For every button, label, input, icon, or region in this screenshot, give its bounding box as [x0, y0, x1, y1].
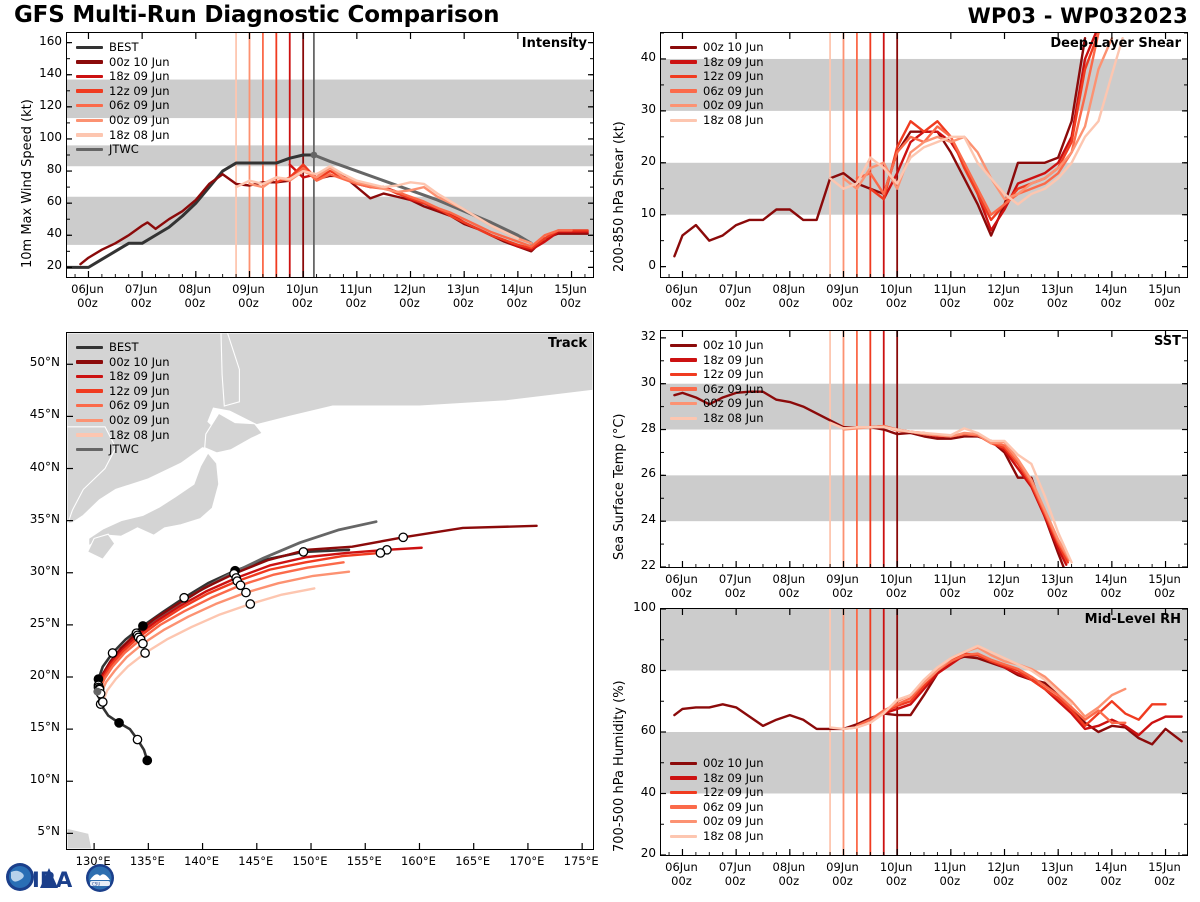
- legend-swatch-icon: [670, 791, 697, 794]
- legend-intensity-item[interactable]: 00z 10 Jun: [76, 55, 170, 70]
- legend-track[interactable]: BEST00z 10 Jun18z 09 Jun12z 09 Jun06z 09…: [76, 340, 170, 457]
- legend-label: 12z 09 Jun: [703, 69, 764, 84]
- legend-label: 18z 08 Jun: [109, 128, 170, 143]
- legend-rh-item[interactable]: 06z 09 Jun: [670, 800, 764, 815]
- page-title: GFS Multi-Run Diagnostic Comparison: [14, 2, 499, 28]
- track-marker-best: [108, 649, 116, 657]
- legend-swatch-icon: [76, 89, 103, 92]
- legend-label: 00z 09 Jun: [109, 413, 170, 428]
- legend-shear-item[interactable]: 06z 09 Jun: [670, 84, 764, 99]
- xtick-label-track: 165°E: [443, 854, 503, 868]
- track-line-06z-09-jun: [100, 562, 344, 689]
- legend-swatch-icon: [76, 119, 103, 122]
- ytick-label-track: 20°N: [10, 668, 60, 682]
- track-marker-best: [180, 594, 188, 602]
- shaded-band-sst-0: [661, 475, 1187, 521]
- track-marker-best: [139, 622, 147, 630]
- legend-swatch-icon: [670, 820, 697, 823]
- svg-text:CSU: CSU: [92, 882, 100, 887]
- legend-rh-item[interactable]: 18z 09 Jun: [670, 771, 764, 786]
- ytick-label-track: 5°N: [10, 824, 60, 838]
- xtick-label-intensity: 11Jun00z: [326, 282, 386, 310]
- legend-swatch-icon: [76, 133, 103, 136]
- legend-label: 00z 10 Jun: [703, 756, 764, 771]
- legend-shear-item[interactable]: 00z 10 Jun: [670, 40, 764, 55]
- xtick-label-sst: 07Jun00z: [705, 572, 765, 600]
- legend-swatch-icon: [670, 373, 697, 376]
- xtick-label-shear: 07Jun00z: [705, 282, 765, 310]
- track-marker-00z-09-jun: [242, 588, 250, 596]
- xtick-label-sst: 12Jun00z: [974, 572, 1034, 600]
- ytick-label-rh: 60: [614, 723, 656, 737]
- legend-label: 18z 08 Jun: [703, 829, 764, 844]
- legend-label: 00z 09 Jun: [703, 98, 764, 113]
- xtick-label-track: 140°E: [172, 854, 232, 868]
- xtick-label-rh: 11Jun00z: [920, 860, 980, 888]
- legend-track-item[interactable]: 00z 10 Jun: [76, 355, 170, 370]
- xtick-label-shear: 15Jun00z: [1135, 282, 1195, 310]
- legend-swatch-icon: [76, 419, 103, 422]
- legend-swatch-icon: [670, 344, 697, 347]
- xtick-label-rh: 09Jun00z: [812, 860, 872, 888]
- panel-title-shear: Deep-Layer Shear: [1050, 36, 1181, 51]
- legend-label: 12z 09 Jun: [109, 384, 170, 399]
- legend-rh[interactable]: 00z 10 Jun18z 09 Jun12z 09 Jun06z 09 Jun…: [670, 756, 764, 844]
- legend-swatch-icon: [76, 104, 103, 107]
- xtick-label-sst: 06Jun00z: [651, 572, 711, 600]
- xtick-label-track: 160°E: [388, 854, 448, 868]
- legend-track-item[interactable]: 06z 09 Jun: [76, 398, 170, 413]
- legend-track-item[interactable]: JTWC: [76, 442, 170, 457]
- legend-label: 06z 09 Jun: [703, 800, 764, 815]
- legend-label: 00z 09 Jun: [109, 113, 170, 128]
- ylabel-shear: 200-850 hPa Shear (kt): [612, 121, 627, 272]
- ytick-label-intensity: 80: [20, 162, 62, 176]
- legend-label: 06z 09 Jun: [703, 382, 764, 397]
- legend-sst-item[interactable]: 12z 09 Jun: [670, 367, 764, 382]
- legend-sst-item[interactable]: 06z 09 Jun: [670, 382, 764, 397]
- track-marker-00z-10-jun: [399, 533, 407, 541]
- xtick-label-rh: 13Jun00z: [1027, 860, 1087, 888]
- legend-intensity-item[interactable]: BEST: [76, 40, 170, 55]
- xtick-label-sst: 13Jun00z: [1027, 572, 1087, 600]
- legend-label: 18z 09 Jun: [703, 55, 764, 70]
- xtick-label-sst: 15Jun00z: [1135, 572, 1195, 600]
- legend-label: 00z 10 Jun: [703, 338, 764, 353]
- legend-label: 06z 09 Jun: [109, 98, 170, 113]
- legend-rh-item[interactable]: 12z 09 Jun: [670, 785, 764, 800]
- jtwc-current-marker: [310, 152, 317, 159]
- legend-shear-item[interactable]: 00z 09 Jun: [670, 98, 764, 113]
- shaded-band-shear-0: [661, 163, 1187, 215]
- xtick-label-track: 145°E: [226, 854, 286, 868]
- legend-rh-item[interactable]: 00z 09 Jun: [670, 814, 764, 829]
- track-line-best: [97, 550, 349, 761]
- legend-track-item[interactable]: 12z 09 Jun: [76, 384, 170, 399]
- storm-id-title: WP03 - WP032023: [968, 4, 1188, 28]
- ytick-label-intensity: 20: [20, 258, 62, 272]
- legend-swatch-icon: [76, 46, 103, 49]
- xtick-label-shear: 09Jun00z: [812, 282, 872, 310]
- ytick-label-shear: 20: [614, 154, 656, 168]
- ytick-label-track: 40°N: [10, 460, 60, 474]
- legend-intensity-item[interactable]: 06z 09 Jun: [76, 98, 170, 113]
- xtick-label-shear: 10Jun00z: [866, 282, 926, 310]
- legend-intensity-item[interactable]: 00z 09 Jun: [76, 113, 170, 128]
- legend-track-item[interactable]: 00z 09 Jun: [76, 413, 170, 428]
- ytick-label-shear: 0: [614, 258, 656, 272]
- ytick-label-sst: 26: [614, 466, 656, 480]
- ytick-label-sst: 24: [614, 512, 656, 526]
- legend-swatch-icon: [670, 104, 697, 107]
- xtick-label-sst: 14Jun00z: [1081, 572, 1141, 600]
- ylabel-rh: 700-500 hPa Humidity (%): [612, 680, 627, 852]
- xtick-label-rh: 07Jun00z: [705, 860, 765, 888]
- xtick-label-track: 150°E: [280, 854, 340, 868]
- legend-sst[interactable]: 00z 10 Jun18z 09 Jun12z 09 Jun06z 09 Jun…: [670, 338, 764, 426]
- xtick-label-intensity: 14Jun00z: [487, 282, 547, 310]
- legend-label: 00z 10 Jun: [109, 355, 170, 370]
- legend-intensity-item[interactable]: JTWC: [76, 142, 170, 157]
- xtick-label-intensity: 09Jun00z: [218, 282, 278, 310]
- ytick-label-track: 25°N: [10, 616, 60, 630]
- legend-swatch-icon: [670, 89, 697, 92]
- ytick-label-intensity: 160: [20, 34, 62, 48]
- legend-rh-item[interactable]: 00z 10 Jun: [670, 756, 764, 771]
- track-marker-06z-09-jun: [236, 581, 244, 589]
- track-marker-00z-09-jun: [139, 639, 147, 647]
- legend-label: 18z 08 Jun: [703, 411, 764, 426]
- ytick-label-shear: 40: [614, 50, 656, 64]
- xtick-label-intensity: 13Jun00z: [433, 282, 493, 310]
- legend-swatch-icon: [670, 46, 697, 49]
- legend-label: 12z 09 Jun: [703, 367, 764, 382]
- xtick-label-sst: 08Jun00z: [759, 572, 819, 600]
- legend-intensity-item[interactable]: 18z 09 Jun: [76, 69, 170, 84]
- legend-sst-item[interactable]: 00z 10 Jun: [670, 338, 764, 353]
- xtick-label-shear: 11Jun00z: [920, 282, 980, 310]
- legend-swatch-icon: [76, 60, 103, 63]
- legend-label: 12z 09 Jun: [703, 785, 764, 800]
- ytick-label-sst: 28: [614, 421, 656, 435]
- legend-swatch-icon: [670, 60, 697, 63]
- legend-label: 00z 09 Jun: [703, 814, 764, 829]
- ytick-label-intensity: 60: [20, 194, 62, 208]
- panel-title-track: Track: [548, 336, 587, 351]
- ytick-label-rh: 40: [614, 785, 656, 799]
- ytick-label-track: 30°N: [10, 564, 60, 578]
- legend-swatch-icon: [76, 433, 103, 436]
- panel-title-intensity: Intensity: [522, 36, 587, 51]
- ytick-label-rh: 100: [614, 600, 656, 614]
- legend-swatch-icon: [670, 835, 697, 838]
- ytick-label-sst: 22: [614, 558, 656, 572]
- panel-title-rh: Mid-Level RH: [1085, 612, 1181, 627]
- xtick-label-sst: 09Jun00z: [812, 572, 872, 600]
- legend-swatch-icon: [76, 404, 103, 407]
- legend-label: 00z 10 Jun: [109, 55, 170, 70]
- xtick-label-rh: 15Jun00z: [1135, 860, 1195, 888]
- xtick-label-track: 155°E: [334, 854, 394, 868]
- legend-shear-item[interactable]: 12z 09 Jun: [670, 69, 764, 84]
- legend-sst-item[interactable]: 00z 09 Jun: [670, 396, 764, 411]
- track-origin-marker: [93, 688, 101, 696]
- legend-swatch-icon: [670, 402, 697, 405]
- legend-shear-item[interactable]: 18z 09 Jun: [670, 55, 764, 70]
- xtick-label-intensity: 15Jun00z: [541, 282, 601, 310]
- legend-swatch-icon: [76, 375, 103, 378]
- legend-shear-item[interactable]: 18z 08 Jun: [670, 113, 764, 128]
- track-marker-best: [115, 719, 123, 727]
- legend-sst-item[interactable]: 18z 08 Jun: [670, 411, 764, 426]
- legend-label: 18z 08 Jun: [109, 428, 170, 443]
- track-marker-18z-08-jun: [141, 649, 149, 657]
- legend-label: JTWC: [109, 142, 139, 157]
- xtick-label-shear: 08Jun00z: [759, 282, 819, 310]
- ytick-label-track: 45°N: [10, 407, 60, 421]
- legend-swatch-icon: [76, 448, 103, 451]
- xtick-label-shear: 13Jun00z: [1027, 282, 1087, 310]
- legend-intensity-item[interactable]: 18z 08 Jun: [76, 128, 170, 143]
- ytick-label-shear: 30: [614, 102, 656, 116]
- xtick-label-rh: 06Jun00z: [651, 860, 711, 888]
- legend-label: BEST: [109, 340, 138, 355]
- ytick-label-intensity: 40: [20, 226, 62, 240]
- legend-label: 18z 09 Jun: [109, 69, 170, 84]
- legend-swatch-icon: [76, 75, 103, 78]
- xtick-label-intensity: 08Jun00z: [165, 282, 225, 310]
- ytick-label-intensity: 100: [20, 130, 62, 144]
- ytick-label-intensity: 140: [20, 66, 62, 80]
- xtick-label-intensity: 10Jun00z: [272, 282, 332, 310]
- legend-label: 06z 09 Jun: [109, 398, 170, 413]
- legend-swatch-icon: [670, 119, 697, 122]
- ytick-label-track: 50°N: [10, 355, 60, 369]
- legend-swatch-icon: [670, 776, 697, 779]
- legend-label: 18z 09 Jun: [109, 369, 170, 384]
- legend-swatch-icon: [670, 75, 697, 78]
- xtick-label-intensity: 12Jun00z: [380, 282, 440, 310]
- ylabel-intensity: 10m Max Wind Speed (kt): [20, 99, 35, 268]
- legend-swatch-icon: [670, 805, 697, 808]
- ytick-label-sst: 30: [614, 375, 656, 389]
- legend-label: BEST: [109, 40, 138, 55]
- track-marker-18z-08-jun: [246, 600, 254, 608]
- ylabel-sst: Sea Surface Temp (°C): [612, 413, 627, 560]
- legend-track-item[interactable]: 18z 09 Jun: [76, 369, 170, 384]
- legend-label: 18z 09 Jun: [703, 353, 764, 368]
- legend-swatch-icon: [76, 346, 103, 349]
- legend-label: 18z 09 Jun: [703, 771, 764, 786]
- track-marker-18z-08-jun: [99, 698, 107, 706]
- legend-label: 18z 08 Jun: [703, 113, 764, 128]
- ytick-label-rh: 80: [614, 662, 656, 676]
- south-islands: [67, 828, 92, 849]
- track-marker-best: [133, 735, 141, 743]
- ytick-label-sst: 32: [614, 329, 656, 343]
- ytick-label-track: 15°N: [10, 720, 60, 734]
- xtick-label-intensity: 06Jun00z: [57, 282, 117, 310]
- ytick-label-shear: 10: [614, 206, 656, 220]
- track-line-18z-09-jun: [98, 548, 421, 688]
- ytick-label-track: 10°N: [10, 772, 60, 786]
- legend-track-item[interactable]: BEST: [76, 340, 170, 355]
- legend-swatch-icon: [76, 148, 103, 151]
- xtick-label-rh: 12Jun00z: [974, 860, 1034, 888]
- xtick-label-shear: 14Jun00z: [1081, 282, 1141, 310]
- legend-swatch-icon: [670, 358, 697, 361]
- ytick-label-rh: 20: [614, 846, 656, 860]
- legend-sst-item[interactable]: 18z 09 Jun: [670, 353, 764, 368]
- xtick-label-sst: 10Jun00z: [866, 572, 926, 600]
- track-line-00z-10-jun: [98, 526, 536, 685]
- xtick-label-shear: 06Jun00z: [651, 282, 711, 310]
- legend-label: 00z 09 Jun: [703, 396, 764, 411]
- xtick-label-rh: 08Jun00z: [759, 860, 819, 888]
- legend-label: 06z 09 Jun: [703, 84, 764, 99]
- xtick-label-track: 170°E: [497, 854, 557, 868]
- legend-label: 00z 10 Jun: [703, 40, 764, 55]
- legend-intensity[interactable]: BEST00z 10 Jun18z 09 Jun12z 09 Jun06z 09…: [76, 40, 170, 157]
- xtick-label-track: 175°E: [551, 854, 611, 868]
- legend-swatch-icon: [670, 387, 697, 390]
- xtick-label-track: 130°E: [63, 854, 123, 868]
- xtick-label-sst: 11Jun00z: [920, 572, 980, 600]
- legend-label: JTWC: [109, 442, 139, 457]
- xtick-label-track: 135°E: [117, 854, 177, 868]
- xtick-label-rh: 10Jun00z: [866, 860, 926, 888]
- legend-swatch-icon: [670, 762, 697, 765]
- track-marker-best: [299, 548, 307, 556]
- panel-title-sst: SST: [1154, 334, 1181, 349]
- xtick-label-rh: 14Jun00z: [1081, 860, 1141, 888]
- legend-label: 12z 09 Jun: [109, 84, 170, 99]
- legend-swatch-icon: [670, 417, 697, 420]
- legend-swatch-icon: [76, 389, 103, 392]
- legend-intensity-item[interactable]: 12z 09 Jun: [76, 84, 170, 99]
- legend-shear[interactable]: 00z 10 Jun18z 09 Jun12z 09 Jun06z 09 Jun…: [670, 40, 764, 128]
- track-marker-best: [143, 756, 151, 764]
- ytick-label-track: 35°N: [10, 512, 60, 526]
- xtick-label-intensity: 07Jun00z: [111, 282, 171, 310]
- legend-swatch-icon: [76, 360, 103, 363]
- legend-track-item[interactable]: 18z 08 Jun: [76, 428, 170, 443]
- xtick-label-shear: 12Jun00z: [974, 282, 1034, 310]
- track-marker-12z-09-jun: [376, 549, 384, 557]
- ytick-label-intensity: 120: [20, 98, 62, 112]
- legend-rh-item[interactable]: 18z 08 Jun: [670, 829, 764, 844]
